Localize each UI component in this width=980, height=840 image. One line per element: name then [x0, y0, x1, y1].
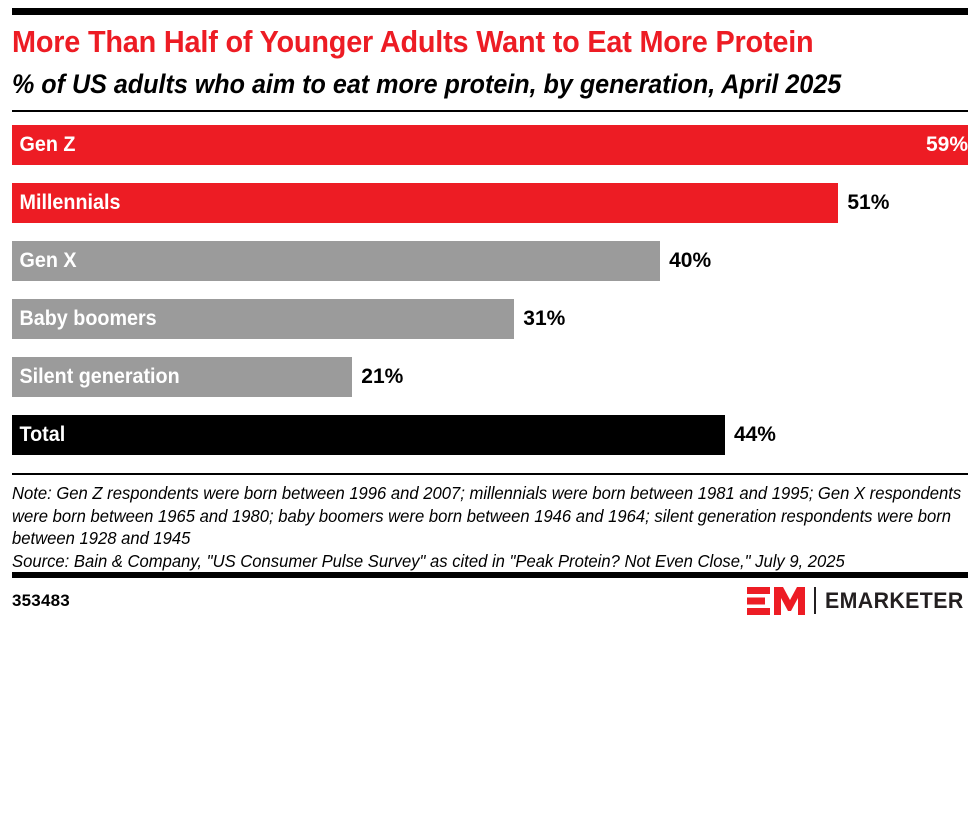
- bar-value-label: 44%: [725, 415, 776, 455]
- bar-row: Baby boomers31%: [12, 299, 968, 339]
- bar-value-label: 21%: [352, 357, 403, 397]
- bar-category-label: Millennials: [12, 191, 120, 215]
- chart-page: More Than Half of Younger Adults Want to…: [0, 8, 980, 840]
- bar-row: Gen X40%: [12, 241, 968, 281]
- top-rule: [12, 8, 968, 15]
- logo-divider: [814, 587, 816, 614]
- bar-chart: Gen Z59%Millennials51%Gen X40%Baby boome…: [12, 112, 968, 455]
- bar-category-label: Total: [12, 423, 65, 447]
- bar-row: Gen Z59%: [12, 125, 968, 165]
- logo-wordmark: EMARKETER: [825, 588, 964, 614]
- em-monogram-icon: [747, 586, 805, 616]
- footer: 353483 EMARKETER: [12, 578, 968, 624]
- emarketer-logo[interactable]: EMARKETER: [747, 586, 968, 616]
- source-text: Source: Bain & Company, "US Consumer Pul…: [12, 550, 966, 572]
- bar-value-label: 31%: [514, 299, 565, 339]
- bar-value-label: 59%: [12, 125, 978, 165]
- bar-value-label: 40%: [660, 241, 711, 281]
- bar-row: Silent generation21%: [12, 357, 968, 397]
- bar-gen-x[interactable]: Gen X: [12, 241, 660, 281]
- page-subtitle: % of US adults who aim to eat more prote…: [12, 68, 963, 100]
- bar-category-label: Gen X: [12, 249, 77, 273]
- footnotes: Note: Gen Z respondents were born betwee…: [12, 475, 968, 572]
- bar-silent-generation[interactable]: Silent generation: [12, 357, 352, 397]
- page-title: More Than Half of Younger Adults Want to…: [12, 24, 963, 60]
- bar-row: Millennials51%: [12, 183, 968, 223]
- bar-total[interactable]: Total: [12, 415, 725, 455]
- bar-baby-boomers[interactable]: Baby boomers: [12, 299, 514, 339]
- bar-millennials[interactable]: Millennials: [12, 183, 838, 223]
- bar-value-label: 51%: [838, 183, 889, 223]
- chart-id: 353483: [12, 591, 70, 611]
- bar-category-label: Baby boomers: [12, 307, 157, 331]
- note-text: Note: Gen Z respondents were born betwee…: [12, 482, 966, 549]
- bar-row: Total44%: [12, 415, 968, 455]
- bar-category-label: Silent generation: [12, 365, 180, 389]
